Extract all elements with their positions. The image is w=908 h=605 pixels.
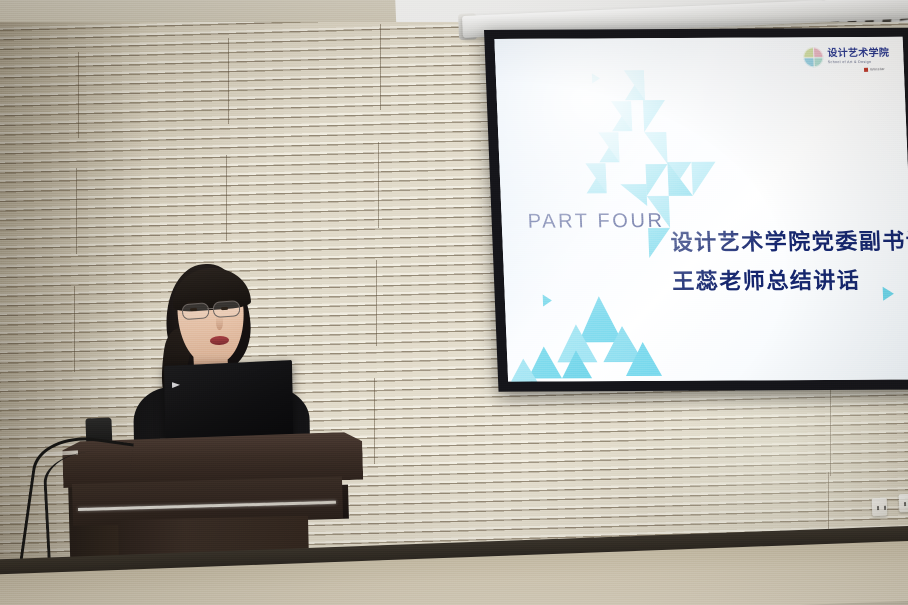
screen-brand-label: Winstar bbox=[864, 63, 906, 74]
numeral-triangle bbox=[620, 184, 647, 206]
wall-socket-far-right bbox=[899, 494, 908, 513]
numeral-triangle bbox=[646, 164, 669, 196]
wall-panel-seam bbox=[76, 168, 77, 254]
eye-right bbox=[221, 307, 228, 310]
slide-title-line-2: 王蕊老师总结讲话 bbox=[671, 261, 908, 301]
numeral-triangle bbox=[598, 132, 619, 162]
slide-section-label: PART FOUR bbox=[527, 210, 665, 234]
numeral-triangle bbox=[585, 163, 606, 193]
decor-triangle bbox=[625, 342, 662, 376]
socket-holes bbox=[902, 499, 908, 509]
photo-scene: 设计艺术学院 School of Art & Design PART FOUR … bbox=[0, 0, 908, 605]
numeral-triangle bbox=[643, 100, 666, 132]
school-logo-text: 设计艺术学院 School of Art & Design bbox=[827, 49, 889, 65]
wall-panel-seam bbox=[378, 142, 379, 228]
wall-panel-seam bbox=[228, 38, 229, 124]
accent-arrow-icon bbox=[543, 294, 552, 306]
numeral-triangle bbox=[624, 70, 645, 100]
accent-arrow-icon bbox=[592, 73, 600, 83]
projection-screen: 设计艺术学院 School of Art & Design PART FOUR … bbox=[484, 28, 908, 392]
school-name-cn: 设计艺术学院 bbox=[827, 49, 889, 59]
nose bbox=[216, 316, 223, 330]
numeral-triangle bbox=[644, 132, 667, 164]
numeral-triangle bbox=[691, 162, 716, 196]
numeral-triangle bbox=[667, 162, 692, 196]
school-logo-mark-icon bbox=[803, 47, 824, 67]
wall-panel-seam bbox=[374, 378, 375, 464]
presentation-slide: 设计艺术学院 School of Art & Design PART FOUR … bbox=[494, 37, 908, 382]
wall-panel-seam bbox=[226, 155, 227, 241]
wall-socket-far-left bbox=[872, 498, 888, 517]
wall-panel-seam bbox=[830, 390, 831, 476]
slide-title-line-1: 设计艺术学院党委副书记 bbox=[670, 223, 908, 263]
socket-holes bbox=[875, 503, 888, 513]
eye-left bbox=[190, 308, 197, 311]
numeral-triangle bbox=[611, 101, 632, 131]
brand-dot-icon bbox=[864, 67, 868, 71]
decor-triangle bbox=[507, 359, 540, 382]
decor-triangle bbox=[561, 350, 592, 378]
lens-left bbox=[182, 302, 210, 320]
wall-panel-seam bbox=[74, 286, 75, 372]
laptop-lid bbox=[164, 360, 294, 444]
wall-panel-seam bbox=[78, 52, 79, 138]
screen-surface: 设计艺术学院 School of Art & Design PART FOUR … bbox=[494, 37, 908, 382]
wall-panel-seam bbox=[376, 260, 377, 346]
wall-panel-seam bbox=[380, 24, 381, 110]
slide-title-block: 设计艺术学院党委副书记 王蕊老师总结讲话 bbox=[670, 223, 908, 301]
brand-name: Winstar bbox=[870, 66, 885, 72]
